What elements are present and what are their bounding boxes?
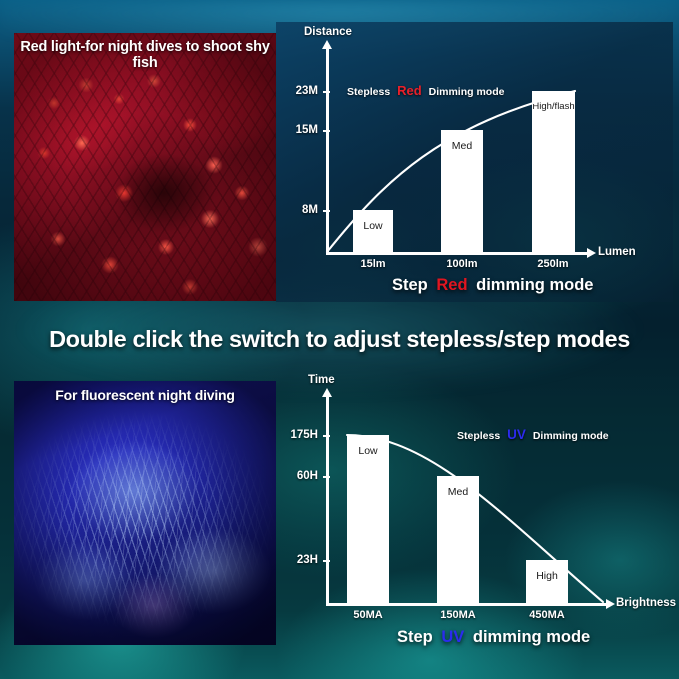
- uv-footer-prefix: Step: [397, 628, 433, 646]
- red-legend-suffix: Dimming mode: [429, 86, 505, 98]
- red-footer-prefix: Step: [392, 276, 428, 294]
- uv-legend-accent: UV: [507, 427, 526, 442]
- uv-legend-suffix: Dimming mode: [533, 430, 609, 442]
- red-footer-suffix: dimming mode: [476, 276, 593, 294]
- uv-chart-stepless-legend: Stepless UV Dimming mode: [455, 427, 611, 442]
- red-legend-accent: Red: [397, 83, 422, 98]
- uv-photo-vignette: [14, 381, 276, 645]
- uv-chart-footer: Step UV dimming mode: [395, 628, 592, 647]
- red-chart-stepless-curve: [290, 30, 675, 305]
- red-photo-vignette: [14, 33, 276, 301]
- red-chart-footer: Step Red dimming mode: [390, 276, 595, 295]
- red-chart-stepless-legend: Stepless Red Dimming mode: [345, 83, 506, 98]
- red-footer-accent: Red: [436, 276, 467, 294]
- uv-footer-suffix: dimming mode: [473, 628, 590, 646]
- uv-photo-caption: For fluorescent night diving: [14, 387, 276, 403]
- uv-footer-accent: UV: [441, 628, 464, 646]
- red-photo-caption: Red light-for night dives to shoot shy f…: [14, 39, 276, 71]
- uv-legend-prefix: Stepless: [457, 430, 500, 442]
- uv-chart-stepless-curve: [290, 378, 675, 650]
- red-dimming-chart: Distance Lumen 23M 15M 8M Low Med High/f…: [290, 30, 675, 305]
- red-light-photo: Red light-for night dives to shoot shy f…: [14, 33, 276, 301]
- instruction-banner: Double click the switch to adjust steple…: [0, 319, 679, 359]
- uv-light-photo: For fluorescent night diving: [14, 381, 276, 645]
- red-legend-prefix: Stepless: [347, 86, 390, 98]
- product-infographic: Red light-for night dives to shoot shy f…: [0, 0, 679, 679]
- uv-dimming-chart: Time Brightness 175H 60H 23H Low Med Hig…: [290, 378, 675, 650]
